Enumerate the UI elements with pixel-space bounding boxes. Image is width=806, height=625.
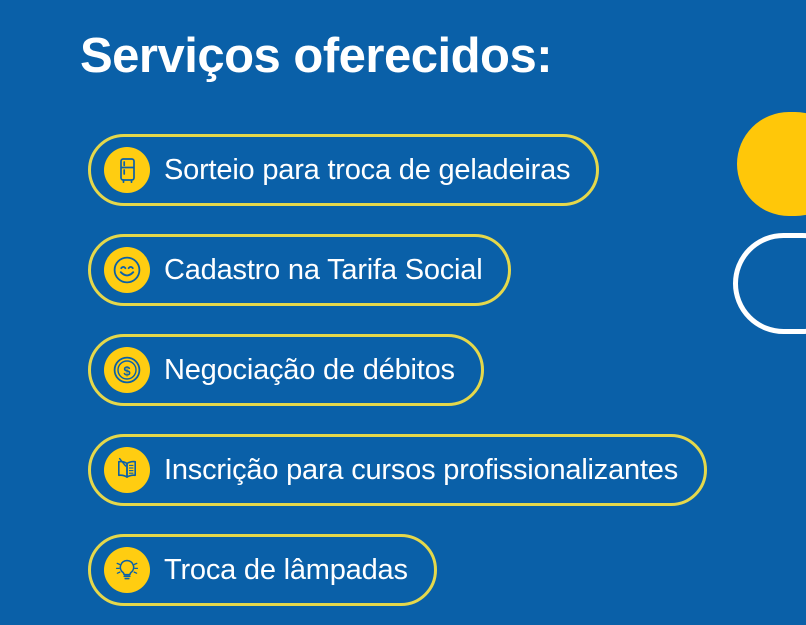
- service-label: Negociação de débitos: [150, 354, 481, 387]
- svg-text:$: $: [123, 364, 131, 379]
- open-book-icon: [104, 447, 150, 493]
- service-label: Troca de lâmpadas: [150, 554, 434, 587]
- services-poster: Serviços oferecidos: Sorteio para troca …: [0, 0, 806, 625]
- refrigerator-icon: [104, 147, 150, 193]
- service-item-cursos-profissionalizantes[interactable]: Inscrição para cursos profissionalizante…: [88, 434, 707, 506]
- service-item-tarifa-social[interactable]: Cadastro na Tarifa Social: [88, 234, 511, 306]
- service-item-sorteio-geladeiras[interactable]: Sorteio para troca de geladeiras: [88, 134, 599, 206]
- service-label: Sorteio para troca de geladeiras: [150, 154, 596, 187]
- services-list: Sorteio para troca de geladeiras Cadastr…: [88, 134, 788, 606]
- service-label: Cadastro na Tarifa Social: [150, 254, 508, 287]
- service-label: Inscrição para cursos profissionalizante…: [150, 454, 704, 487]
- service-item-negociacao-debitos[interactable]: $ Negociação de débitos: [88, 334, 484, 406]
- smiley-face-icon: [104, 247, 150, 293]
- service-item-troca-lampadas[interactable]: Troca de lâmpadas: [88, 534, 437, 606]
- page-title: Serviços oferecidos:: [80, 28, 552, 84]
- lightbulb-icon: [104, 547, 150, 593]
- coin-dollar-icon: $: [104, 347, 150, 393]
